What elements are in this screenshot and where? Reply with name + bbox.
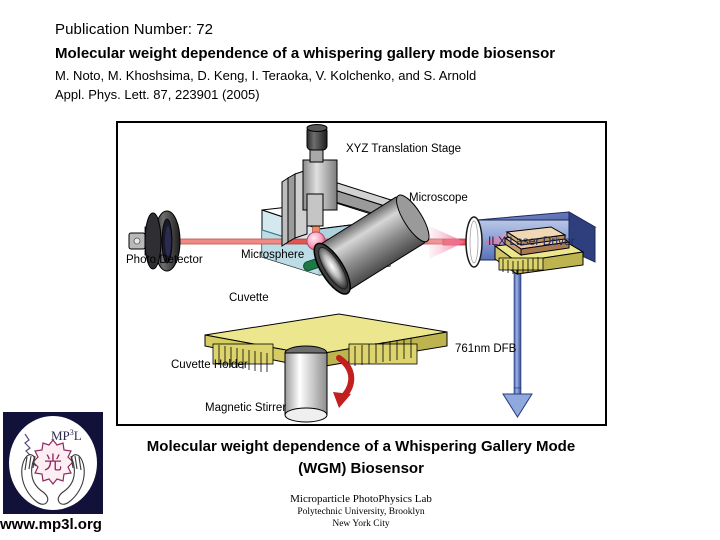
logo-acronym: MP3L bbox=[51, 428, 82, 443]
label-microsphere: Microsphere bbox=[241, 249, 304, 262]
publication-header: Publication Number: 72 Molecular weight … bbox=[55, 20, 695, 104]
driver-cable-graphic bbox=[503, 260, 532, 417]
figure-caption: Molecular weight dependence of a Whisper… bbox=[126, 436, 596, 480]
label-magnetic-stirrer: Magnetic Stirrer bbox=[205, 402, 286, 415]
figure-frame: XYZ Translation Stage Microscope Microsp… bbox=[116, 121, 607, 426]
lab-affiliation: Microparticle PhotoPhysics Lab Polytechn… bbox=[126, 492, 596, 530]
publication-reference: Appl. Phys. Lett. 87, 223901 (2005) bbox=[55, 85, 695, 104]
mp3l-logo-graphic: MP3L 光 bbox=[3, 412, 103, 514]
publication-number: Publication Number: 72 bbox=[55, 20, 695, 40]
figure-diagram: XYZ Translation Stage Microscope Microsp… bbox=[117, 122, 606, 425]
label-xyz-translation-stage: XYZ Translation Stage bbox=[346, 143, 461, 156]
label-photo-detector: Photo Detector bbox=[126, 254, 203, 267]
label-cuvette: Cuvette bbox=[229, 292, 269, 305]
publication-authors: M. Noto, M. Khoshsima, D. Keng, I. Terao… bbox=[55, 66, 695, 85]
lab-city: New York City bbox=[126, 518, 596, 530]
label-cuvette-holder: Cuvette Holder bbox=[171, 359, 248, 372]
lab-name: Microparticle PhotoPhysics Lab bbox=[126, 492, 596, 506]
magnetic-stirrer-graphic bbox=[285, 346, 351, 422]
label-microscope: Microscope bbox=[409, 192, 468, 205]
logo-glyph: 光 bbox=[44, 453, 62, 474]
lab-university: Polytechnic University, Brooklyn bbox=[126, 506, 596, 518]
caption-line-1: Molecular weight dependence of a Whisper… bbox=[126, 436, 596, 458]
apparatus-schematic bbox=[117, 122, 604, 423]
label-ilx-laser-driver: ILX Laser Driver bbox=[488, 235, 575, 248]
label-dfb: 761nm DFB bbox=[455, 343, 516, 356]
lab-website-url: www.mp3l.org bbox=[0, 516, 140, 533]
publication-title: Molecular weight dependence of a whisper… bbox=[55, 43, 695, 64]
caption-line-2: (WGM) Biosensor bbox=[126, 458, 596, 480]
mp3l-logo: MP3L 光 bbox=[3, 412, 103, 514]
